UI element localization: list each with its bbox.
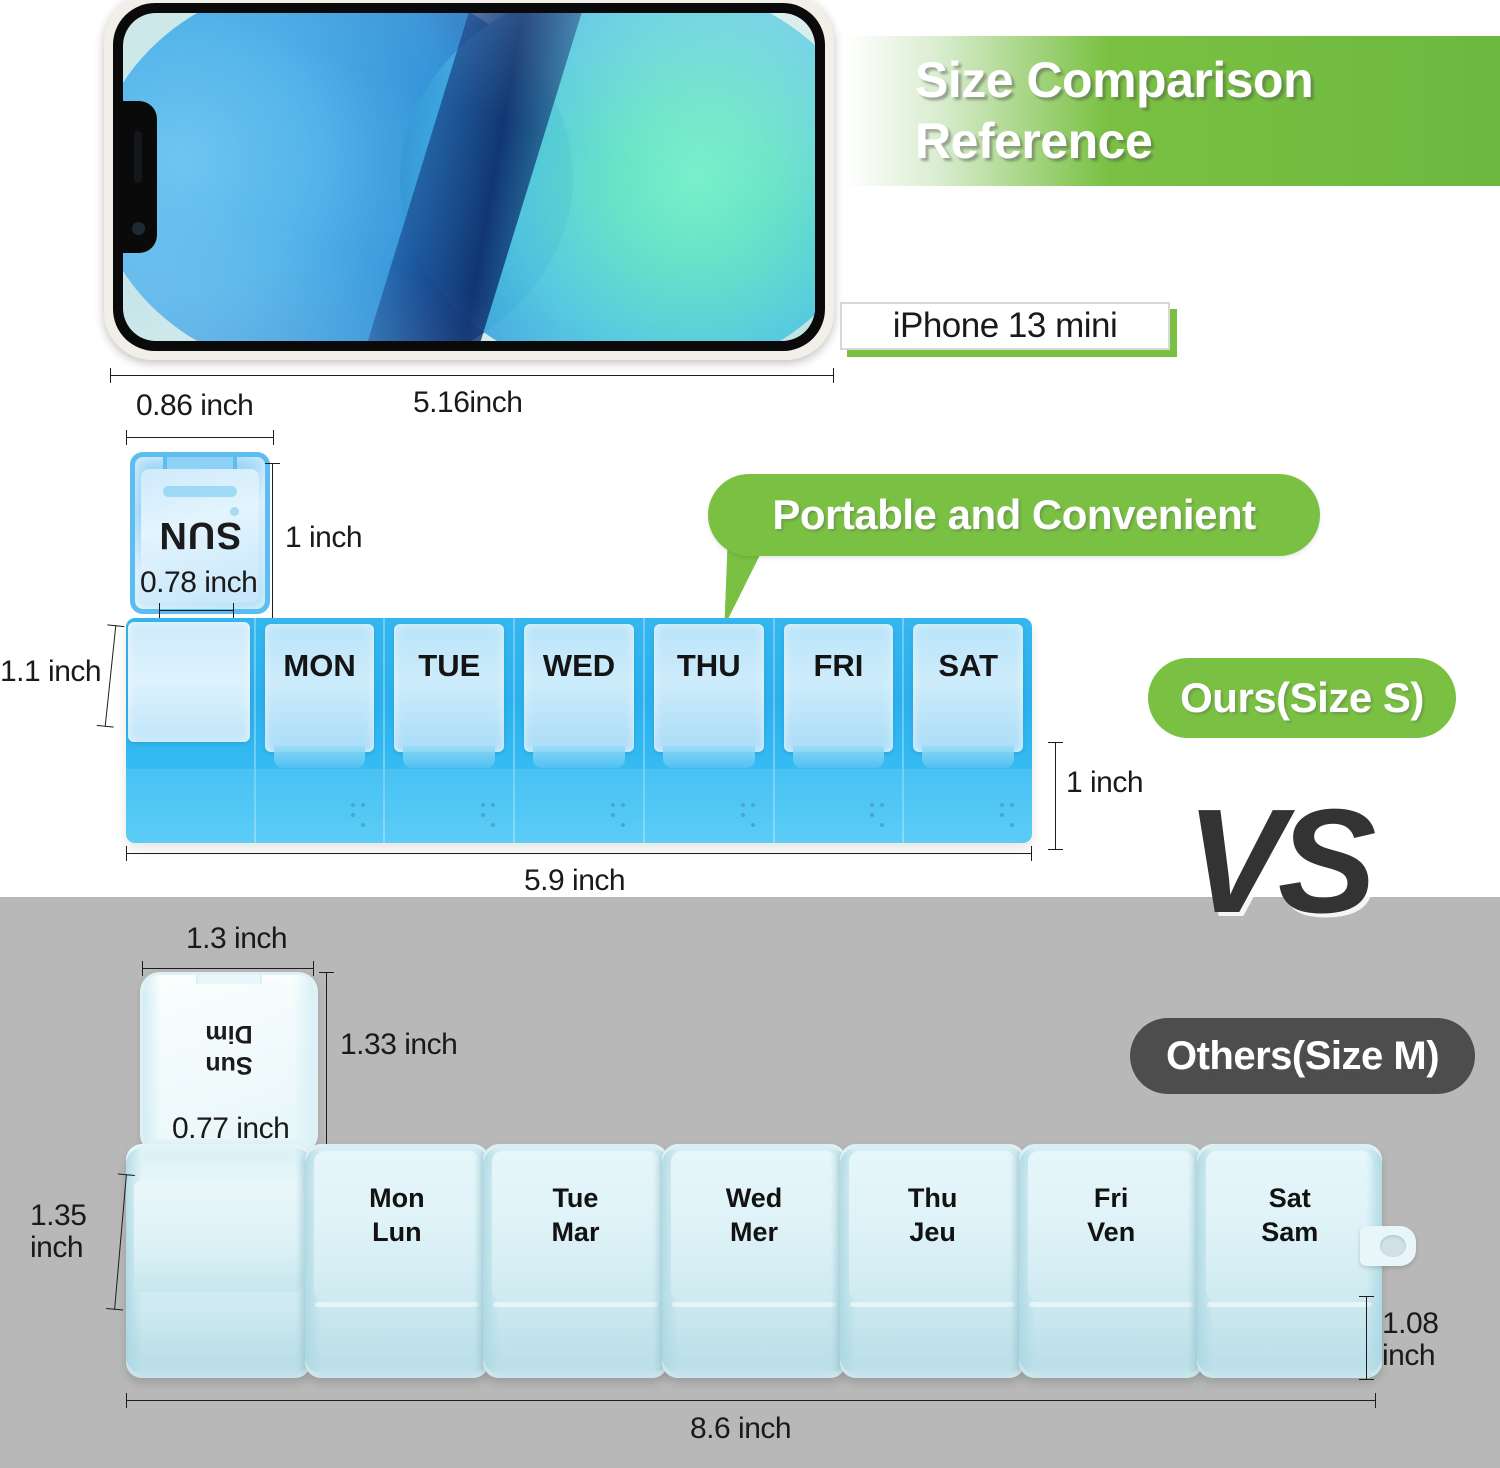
wallpaper-sheen bbox=[123, 13, 815, 341]
pillbox-m-right-height-dim-line bbox=[1366, 1296, 1367, 1380]
pillbox-m-label-5-line2: Ven bbox=[1087, 1217, 1135, 1247]
callout-bubble-text: Portable and Convenient bbox=[772, 491, 1255, 539]
infographic-root: iPhone 13 mini 5.16inch 0.86 inch SUN 1 … bbox=[0, 0, 1500, 1468]
badge-ours-size-s: Ours(Size S) bbox=[1148, 658, 1456, 738]
pillbox-m-right-height-dim-label: 1.08 inch bbox=[1382, 1308, 1482, 1371]
latch-hole-icon bbox=[1380, 1235, 1406, 1257]
pillbox-m-label-3-line1: Wed bbox=[726, 1183, 783, 1213]
pillbox-m-compartment-thu[interactable]: Thu Jeu bbox=[840, 1144, 1025, 1378]
badge-others-size-m: Others(Size M) bbox=[1130, 1018, 1475, 1094]
pillbox-m-label-6-line2: Sam bbox=[1261, 1217, 1318, 1247]
pillbox-m-label-3-line2: Mer bbox=[730, 1217, 778, 1247]
lid-m-day-label-line1: Sun bbox=[205, 1051, 252, 1079]
pillbox-s-compartment-tue[interactable]: TUE bbox=[383, 618, 513, 843]
lid-m-day-label: Sun Dim bbox=[143, 1019, 315, 1080]
pillbox-s-compartment-wed[interactable]: WED bbox=[513, 618, 643, 843]
lid-s-width-dim-line bbox=[159, 610, 234, 611]
pillbox-s-length-dim-line bbox=[126, 853, 1032, 854]
pillbox-s-lid-5[interactable] bbox=[784, 624, 894, 752]
pillbox-s-body-sheen-1 bbox=[256, 769, 384, 843]
lid-s-outer-width-dim-line bbox=[126, 437, 274, 438]
pillbox-m-label-2: Tue Mar bbox=[483, 1182, 668, 1250]
pillbox-s-left-height-dim-label: 1.1 inch bbox=[0, 655, 101, 689]
pillbox-m-open-body[interactable] bbox=[134, 1180, 303, 1292]
title-line-2: Reference bbox=[915, 111, 1500, 172]
lid-m-width-dim-label: 0.77 inch bbox=[172, 1112, 289, 1146]
pillbox-s-right-height-dim-label: 1 inch bbox=[1066, 766, 1143, 800]
pillbox-s-clip-6 bbox=[922, 746, 1014, 768]
pillbox-s-compartment-fri[interactable]: FRI bbox=[773, 618, 903, 843]
pillbox-m-label-6-line1: Sat bbox=[1269, 1183, 1311, 1213]
pillbox-m-seam-5 bbox=[1029, 1302, 1194, 1307]
pillbox-m-label-2-line2: Mar bbox=[551, 1217, 599, 1247]
pillbox-s-right-height-dim-line bbox=[1055, 742, 1056, 850]
pillbox-size-m: Mon Lun Tue Mar Wed bbox=[126, 1144, 1376, 1378]
lid-s-height-dim-label: 1 inch bbox=[285, 521, 362, 555]
pillbox-m-length-dim-label: 8.6 inch bbox=[690, 1412, 791, 1446]
pillbox-m-label-2-line1: Tue bbox=[552, 1183, 598, 1213]
lid-s-tab bbox=[163, 452, 237, 469]
pillbox-m-label-4-line1: Thu bbox=[908, 1183, 957, 1213]
pillbox-s-label-4: THU bbox=[645, 648, 773, 684]
pillbox-s-lid-6[interactable] bbox=[913, 624, 1023, 752]
lid-m-outer-width-dim-line bbox=[142, 968, 314, 969]
pillbox-s-clip-3 bbox=[533, 746, 625, 768]
pillbox-m-compartment-sat[interactable]: Sat Sam bbox=[1197, 1144, 1382, 1378]
pillbox-s-clip-2 bbox=[403, 746, 495, 768]
pillbox-s-body-sheen-0 bbox=[126, 769, 254, 843]
phone-screen bbox=[123, 13, 815, 341]
pillbox-s-clip-4 bbox=[663, 746, 755, 768]
title-banner: Size Comparison Reference bbox=[845, 36, 1500, 186]
lid-s-day-label: SUN bbox=[135, 513, 265, 556]
phone-notch bbox=[123, 101, 157, 253]
pillbox-m-compartment-mon[interactable]: Mon Lun bbox=[305, 1144, 490, 1378]
pillbox-m-label-4-line2: Jeu bbox=[909, 1217, 956, 1247]
pillbox-s-body-sheen-4 bbox=[645, 769, 773, 843]
pillbox-s-label-3: WED bbox=[515, 648, 643, 684]
pillbox-m-label-4: Thu Jeu bbox=[840, 1182, 1025, 1250]
pillbox-m-compartment-fri[interactable]: Fri Ven bbox=[1019, 1144, 1204, 1378]
iphone-label-text: iPhone 13 mini bbox=[893, 306, 1118, 346]
pillbox-s-lid-3[interactable] bbox=[524, 624, 634, 752]
pillbox-s-compartment-thu[interactable]: THU bbox=[643, 618, 773, 843]
lid-m-tab bbox=[196, 972, 262, 984]
phone-width-dim-line bbox=[110, 375, 834, 376]
pillbox-s-body-sheen-5 bbox=[775, 769, 903, 843]
pillbox-s-body-sheen-6 bbox=[904, 769, 1032, 843]
pillbox-s-lid-1[interactable] bbox=[265, 624, 375, 752]
lid-m-height-dim-label: 1.33 inch bbox=[340, 1028, 457, 1062]
pillbox-m-compartment-wed[interactable]: Wed Mer bbox=[662, 1144, 847, 1378]
pillbox-s-body-sheen-2 bbox=[385, 769, 513, 843]
pillbox-m-compartment-sun[interactable] bbox=[126, 1144, 311, 1378]
pillbox-m-right-height-dim-text: 1.08 inch bbox=[1382, 1307, 1438, 1372]
earpiece-speaker-icon bbox=[134, 131, 142, 183]
pillbox-m-latch-tab[interactable] bbox=[1360, 1226, 1416, 1266]
pillbox-s-label-1: MON bbox=[256, 648, 384, 684]
pillbox-s-label-5: FRI bbox=[775, 648, 903, 684]
vs-label: VS bbox=[1186, 788, 1369, 936]
lid-s-height-dim-line bbox=[272, 463, 273, 639]
pillbox-m-left-height-dim-text: 1.35 inch bbox=[30, 1199, 86, 1264]
pillbox-s-length-dim-label: 5.9 inch bbox=[524, 864, 625, 898]
pillbox-m-label-1-line2: Lun bbox=[372, 1217, 421, 1247]
pillbox-s-lid-open[interactable] bbox=[128, 622, 250, 742]
badge-others-text: Others(Size M) bbox=[1166, 1034, 1439, 1079]
lid-s-outer-width-label: 0.86 inch bbox=[136, 389, 253, 423]
pillbox-m-label-6: Sat Sam bbox=[1197, 1182, 1382, 1250]
iphone-13-mini-image bbox=[104, 0, 834, 360]
callout-bubble: Portable and Convenient bbox=[708, 474, 1320, 556]
title-line-1: Size Comparison bbox=[915, 50, 1500, 111]
pillbox-m-label-3: Wed Mer bbox=[662, 1182, 847, 1250]
lid-m-day-label-line2: Dim bbox=[205, 1021, 252, 1049]
pillbox-m-label-5-line1: Fri bbox=[1094, 1183, 1129, 1213]
pillbox-m-seam-4 bbox=[850, 1302, 1015, 1307]
pillbox-m-seam-3 bbox=[672, 1302, 837, 1307]
pillbox-m-compartments: Mon Lun Tue Mar Wed bbox=[126, 1144, 1376, 1378]
lid-m-outer-width-dim-label: 1.3 inch bbox=[186, 922, 287, 956]
wallpaper bbox=[123, 13, 815, 341]
pillbox-s-lid-4[interactable] bbox=[654, 624, 764, 752]
pillbox-s-label-2: TUE bbox=[385, 648, 513, 684]
lid-s-ridge bbox=[163, 486, 237, 497]
pillbox-m-seam-2 bbox=[493, 1302, 658, 1307]
pillbox-m-compartment-tue[interactable]: Tue Mar bbox=[483, 1144, 668, 1378]
phone-bezel bbox=[113, 3, 825, 351]
pillbox-s-compartment-sun[interactable] bbox=[126, 618, 254, 843]
pillbox-m-seam-1 bbox=[315, 1302, 480, 1307]
pillbox-s-clip-1 bbox=[274, 746, 366, 768]
pillbox-s-body-sheen-3 bbox=[515, 769, 643, 843]
pillbox-size-s: MON TUE WED THU bbox=[126, 618, 1032, 843]
pillbox-m-label-5: Fri Ven bbox=[1019, 1182, 1204, 1250]
pillbox-s-compartment-sat[interactable]: SAT bbox=[902, 618, 1032, 843]
pillbox-m-seam-6 bbox=[1207, 1302, 1372, 1307]
pillbox-m-length-dim-line bbox=[126, 1400, 1376, 1401]
pillbox-s-left-height-dim-line bbox=[105, 625, 117, 727]
front-camera-icon bbox=[132, 222, 145, 235]
lid-m-height-dim-line bbox=[326, 972, 327, 1154]
pillbox-s-clip-5 bbox=[793, 746, 885, 768]
lid-s-width-dim-label: 0.78 inch bbox=[140, 566, 257, 600]
pillbox-m-label-1: Mon Lun bbox=[305, 1182, 490, 1250]
badge-ours-text: Ours(Size S) bbox=[1180, 674, 1424, 722]
pillbox-m-label-1-line1: Mon bbox=[369, 1183, 424, 1213]
pillbox-s-compartment-mon[interactable]: MON bbox=[254, 618, 384, 843]
callout-bubble-tail bbox=[717, 548, 764, 626]
phone-width-dim-label: 5.16inch bbox=[413, 386, 522, 420]
pillbox-s-lid-2[interactable] bbox=[394, 624, 504, 752]
pillbox-m-left-height-dim-label: 1.35 inch bbox=[30, 1200, 122, 1263]
iphone-label-box: iPhone 13 mini bbox=[840, 302, 1170, 350]
pillbox-s-label-6: SAT bbox=[904, 648, 1032, 684]
